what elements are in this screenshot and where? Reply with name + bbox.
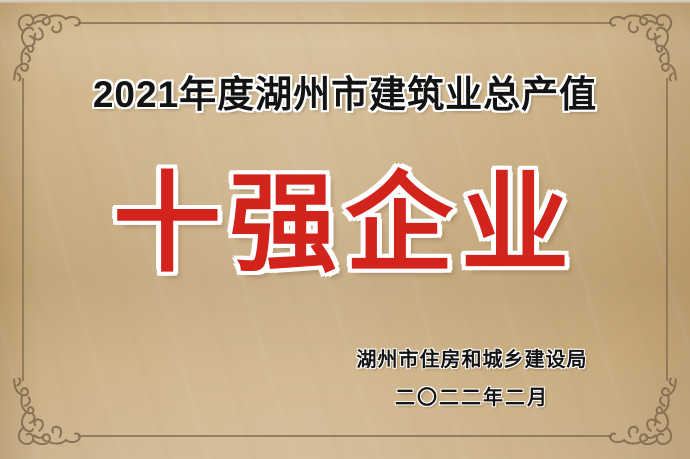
plaque-signature-block: 湖州市住房和城乡建设局 二〇二二年二月 [342,346,602,412]
issuing-authority: 湖州市住房和城乡建设局 [342,346,602,374]
award-plaque: 2021年度湖州市建筑业总产值 十强企业 湖州市住房和城乡建设局 二〇二二年二月 [0,0,690,459]
plaque-content: 2021年度湖州市建筑业总产值 十强企业 湖州市住房和城乡建设局 二〇二二年二月 [0,0,690,459]
plaque-headline-award: 十强企业 [0,164,690,284]
plaque-title: 2021年度湖州市建筑业总产值 [0,72,690,118]
issue-date: 二〇二二年二月 [342,384,602,412]
